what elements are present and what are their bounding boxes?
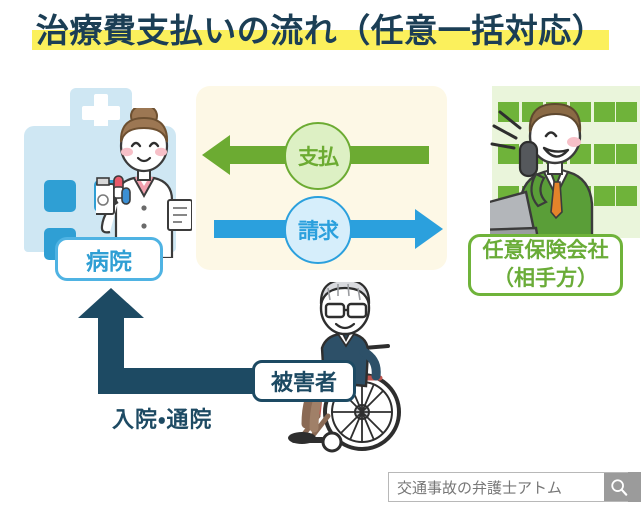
- treatment-flow-arrow-vertical: [98, 310, 124, 394]
- search-button[interactable]: [604, 473, 634, 501]
- victim-label-text: 被害者: [271, 365, 337, 397]
- billing-arrow-badge: 請求: [284, 196, 352, 264]
- insurance-illustration: [492, 86, 641, 248]
- insurance-agent-icon: [490, 92, 620, 248]
- hospital-illustration: [18, 88, 186, 258]
- payment-arrow-label: 支払: [298, 141, 338, 171]
- hospital-label-text: 病院: [86, 242, 132, 276]
- treatment-flow-arrow-head: [78, 288, 144, 318]
- route-label: 入院・通院: [112, 402, 212, 434]
- search-input[interactable]: [389, 473, 604, 501]
- hospital-window: [44, 180, 76, 212]
- node-label-hospital: 病院: [55, 237, 163, 281]
- payment-arrow-badge: 支払: [284, 122, 352, 190]
- treatment-flow-arrow: [78, 288, 278, 398]
- payment-arrow: 支払: [196, 122, 447, 188]
- node-label-victim: 被害者: [252, 360, 356, 402]
- payment-arrow-head: [202, 135, 230, 175]
- exchange-panel: 支払 請求: [196, 86, 447, 270]
- infographic-canvas: 治療費支払いの流れ（任意一括対応）: [0, 0, 641, 507]
- insurance-label-line1: 任意保険会社: [483, 237, 609, 265]
- search-icon: [610, 478, 628, 496]
- page-title: 治療費支払いの流れ（任意一括対応）: [0, 6, 641, 62]
- nurse-character-icon: [96, 108, 192, 258]
- search-bar[interactable]: [388, 472, 628, 502]
- billing-arrow: 請求: [196, 196, 447, 262]
- billing-arrow-label: 請求: [298, 215, 338, 245]
- node-label-insurance: 任意保険会社 （相手方）: [468, 234, 623, 296]
- title-text: 治療費支払いの流れ（任意一括対応）: [36, 12, 606, 49]
- billing-arrow-head: [415, 209, 443, 249]
- insurance-label-line2: （相手方）: [493, 265, 598, 293]
